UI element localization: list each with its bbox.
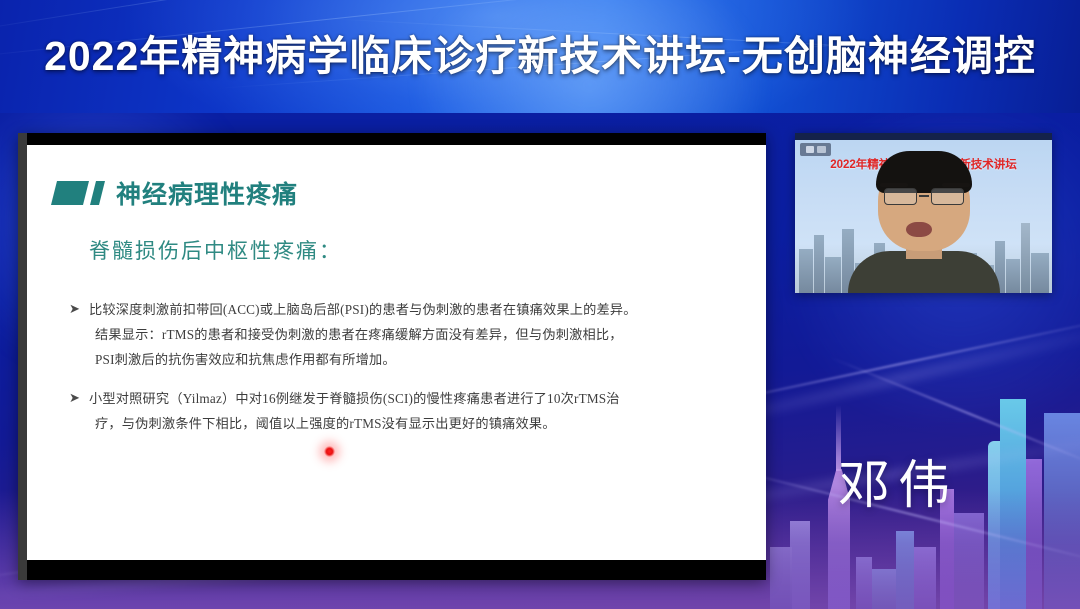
figure-eyebrow	[880, 183, 908, 187]
bullet-line: 结果显示：rTMS的患者和接受伪刺激的患者在疼痛缓解方面没有差异，但与伪刺激相比…	[89, 322, 734, 347]
slide-letterbox-top	[27, 133, 766, 145]
bullet-line: 比较深度刺激前扣带回(ACC)或上脑岛后部(PSI)的患者与伪刺激的患者在镇痛效…	[89, 297, 734, 322]
presenter-webcam-figure	[862, 173, 986, 293]
figure-eyebrow	[942, 183, 970, 187]
vbg-tower	[1021, 223, 1030, 293]
slide-letterbox-bottom	[27, 560, 766, 580]
glasses-lens	[931, 188, 964, 205]
header-banner: 2022年精神病学临床诊疗新技术讲坛-无创脑神经调控	[0, 0, 1080, 113]
bullet-line: 小型对照研究（Yilmaz）中对16例继发于脊髓损伤(SCI)的慢性疼痛患者进行…	[89, 386, 734, 411]
video-topbar	[795, 133, 1052, 140]
vbg-building	[799, 249, 813, 293]
bullet-arrow-icon: ➤	[69, 297, 89, 372]
vbg-building	[825, 257, 841, 293]
slide-inner: 神经病理性疼痛 脊髓损伤后中枢性疼痛： ➤ 比较深度刺激前扣带回(ACC)或上脑…	[27, 133, 766, 580]
slide-heading-text: 神经病理性疼痛	[116, 175, 298, 211]
heading-slash-icon	[90, 181, 105, 205]
vbg-building	[1031, 253, 1049, 293]
bullet-list: ➤ 比较深度刺激前扣带回(ACC)或上脑岛后部(PSI)的患者与伪刺激的患者在镇…	[69, 297, 734, 450]
list-item: ➤ 比较深度刺激前扣带回(ACC)或上脑岛后部(PSI)的患者与伪刺激的患者在镇…	[69, 297, 734, 372]
laser-pointer-dot	[324, 446, 335, 457]
bullet-lines: 比较深度刺激前扣带回(ACC)或上脑岛后部(PSI)的患者与伪刺激的患者在镇痛效…	[89, 297, 734, 372]
bullet-line: PSI刺激后的抗伤害效应和抗焦虑作用都有所增加。	[89, 347, 734, 372]
slide-heading: 神经病理性疼痛	[54, 175, 298, 211]
page-title: 2022年精神病学临床诊疗新技术讲坛-无创脑神经调控	[0, 22, 1080, 82]
presenter-name: 邓伟	[838, 443, 1048, 518]
bullet-lines: 小型对照研究（Yilmaz）中对16例继发于脊髓损伤(SCI)的慢性疼痛患者进行…	[89, 386, 734, 436]
list-item: ➤ 小型对照研究（Yilmaz）中对16例继发于脊髓损伤(SCI)的慢性疼痛患者…	[69, 386, 734, 436]
video-panel[interactable]: 2022年精神病学临床诊疗新技术讲坛 无创脑神经调控 2022年 20:00	[795, 133, 1052, 293]
figure-mouth	[906, 222, 932, 237]
slide-canvas: 神经病理性疼痛 脊髓损伤后中枢性疼痛： ➤ 比较深度刺激前扣带回(ACC)或上脑…	[27, 145, 766, 560]
vbg-building	[1006, 259, 1020, 293]
video-controls-badge[interactable]	[800, 143, 831, 156]
heading-block-icon	[51, 181, 89, 205]
glasses-icon	[882, 188, 966, 205]
bullet-arrow-icon: ➤	[69, 386, 89, 436]
glasses-bridge	[919, 195, 929, 197]
camera-icon	[817, 146, 826, 153]
slide-frame[interactable]: 神经病理性疼痛 脊髓损伤后中枢性疼痛： ➤ 比较深度刺激前扣带回(ACC)或上脑…	[18, 133, 766, 580]
video-scene: 2022年精神病学临床诊疗新技术讲坛 无创脑神经调控 2022年 20:00	[795, 140, 1052, 293]
vbg-building	[814, 235, 824, 293]
glasses-lens	[884, 188, 917, 205]
bullet-line: 疗，与伪刺激条件下相比，阈值以上强度的rTMS没有显示出更好的镇痛效果。	[89, 411, 734, 436]
slide-subtitle: 脊髓损伤后中枢性疼痛：	[89, 235, 342, 265]
microphone-icon	[806, 146, 814, 153]
